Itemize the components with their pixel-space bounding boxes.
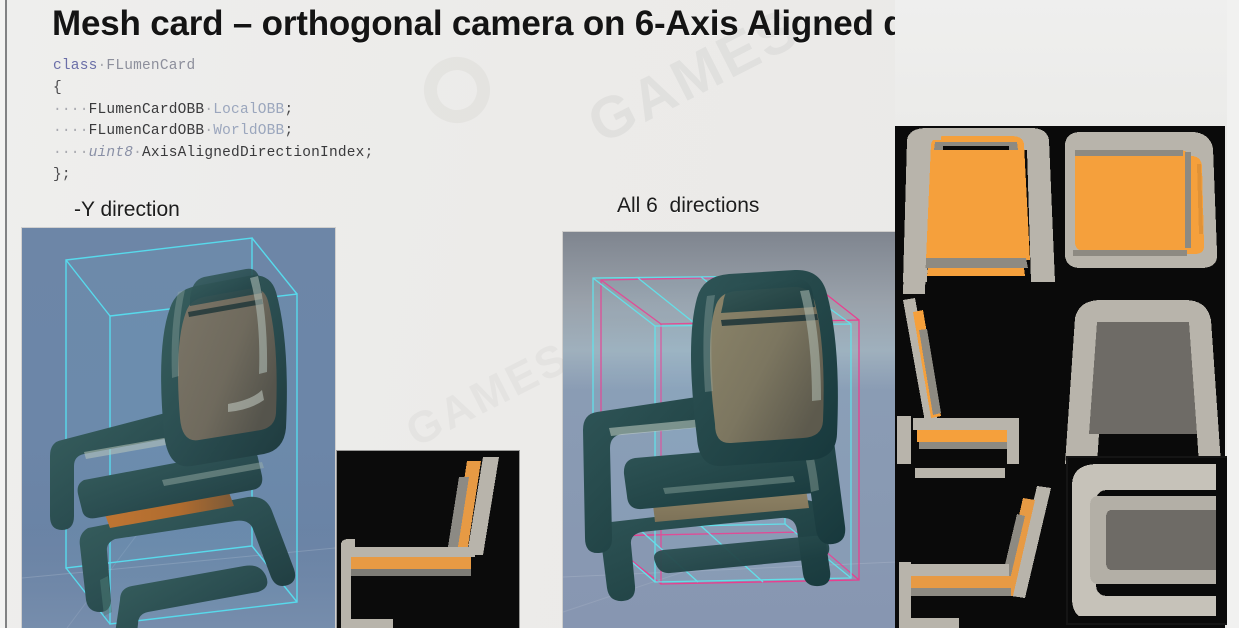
thumbnail-minus-y-card[interactable]: [337, 451, 519, 628]
paper-strip-right-edge: [1227, 0, 1239, 628]
paper-above-grid: [895, 0, 1227, 126]
code-line-1: {: [53, 78, 373, 100]
code-token: FLumenCardOBB: [89, 123, 205, 139]
code-token: AxisAlignedDirectionIndex: [142, 145, 365, 161]
code-line-2: ····FLumenCardOBB·LocalOBB;: [53, 100, 373, 122]
code-line-3: ····FLumenCardOBB·WorldOBB;: [53, 121, 373, 143]
code-token: LocalOBB: [213, 102, 284, 118]
code-token: ;: [365, 145, 374, 161]
code-token: {: [53, 80, 62, 96]
grid-cell-top[interactable]: [1061, 126, 1225, 294]
code-token: uint8: [89, 145, 134, 161]
chair-render-right: [563, 232, 896, 628]
chair-render-left: [22, 228, 335, 628]
code-token: WorldOBB: [213, 123, 284, 139]
code-token: ·: [204, 102, 213, 118]
code-token: };: [53, 167, 71, 183]
direction-capture-grid[interactable]: [895, 126, 1225, 628]
code-token: FLumenCardOBB: [89, 102, 205, 118]
code-token: class: [53, 58, 98, 74]
code-line-4: ····uint8·AxisAlignedDirectionIndex;: [53, 143, 373, 165]
code-token: ····: [53, 102, 89, 118]
card-capture-bottom: [1068, 458, 1230, 623]
watermark-text-c: GAMES: [398, 333, 578, 458]
caption-left-viewport: -Y direction: [74, 198, 180, 222]
slide-root: GAMES GAMES GAMES Mesh card – orthogonal…: [0, 0, 1239, 628]
card-capture-side-view: [337, 451, 519, 628]
code-line-0: class·FLumenCard: [53, 56, 373, 78]
viewport-all-6-directions[interactable]: [563, 232, 896, 628]
grid-cell-front[interactable]: [895, 126, 1057, 294]
code-block: class·FLumenCard{····FLumenCardOBB·Local…: [53, 56, 373, 187]
caption-right-viewport: All 6 directions: [617, 194, 759, 218]
code-token: ;: [284, 123, 293, 139]
grid-cell-back[interactable]: [1061, 298, 1225, 464]
card-capture-top: [1061, 126, 1225, 294]
watermark-ring-icon: [415, 48, 500, 133]
card-capture-back: [1061, 298, 1225, 464]
grid-cell-bottom[interactable]: [1068, 458, 1230, 623]
card-capture-side-right: [895, 468, 1057, 628]
code-token: ····: [53, 123, 89, 139]
grid-cell-side-left[interactable]: [895, 298, 1057, 464]
card-capture-front: [895, 126, 1057, 294]
code-token: ····: [53, 145, 89, 161]
code-token: ;: [284, 102, 293, 118]
grid-cell-side-right[interactable]: [895, 468, 1057, 628]
frame-edge-line: [5, 0, 7, 628]
viewport-minus-y-direction[interactable]: [22, 228, 335, 628]
code-token: ·: [133, 145, 142, 161]
card-capture-side-left: [895, 298, 1057, 464]
code-token: ·: [204, 123, 213, 139]
code-token: FLumenCard: [106, 58, 195, 74]
code-line-5: };: [53, 165, 373, 187]
